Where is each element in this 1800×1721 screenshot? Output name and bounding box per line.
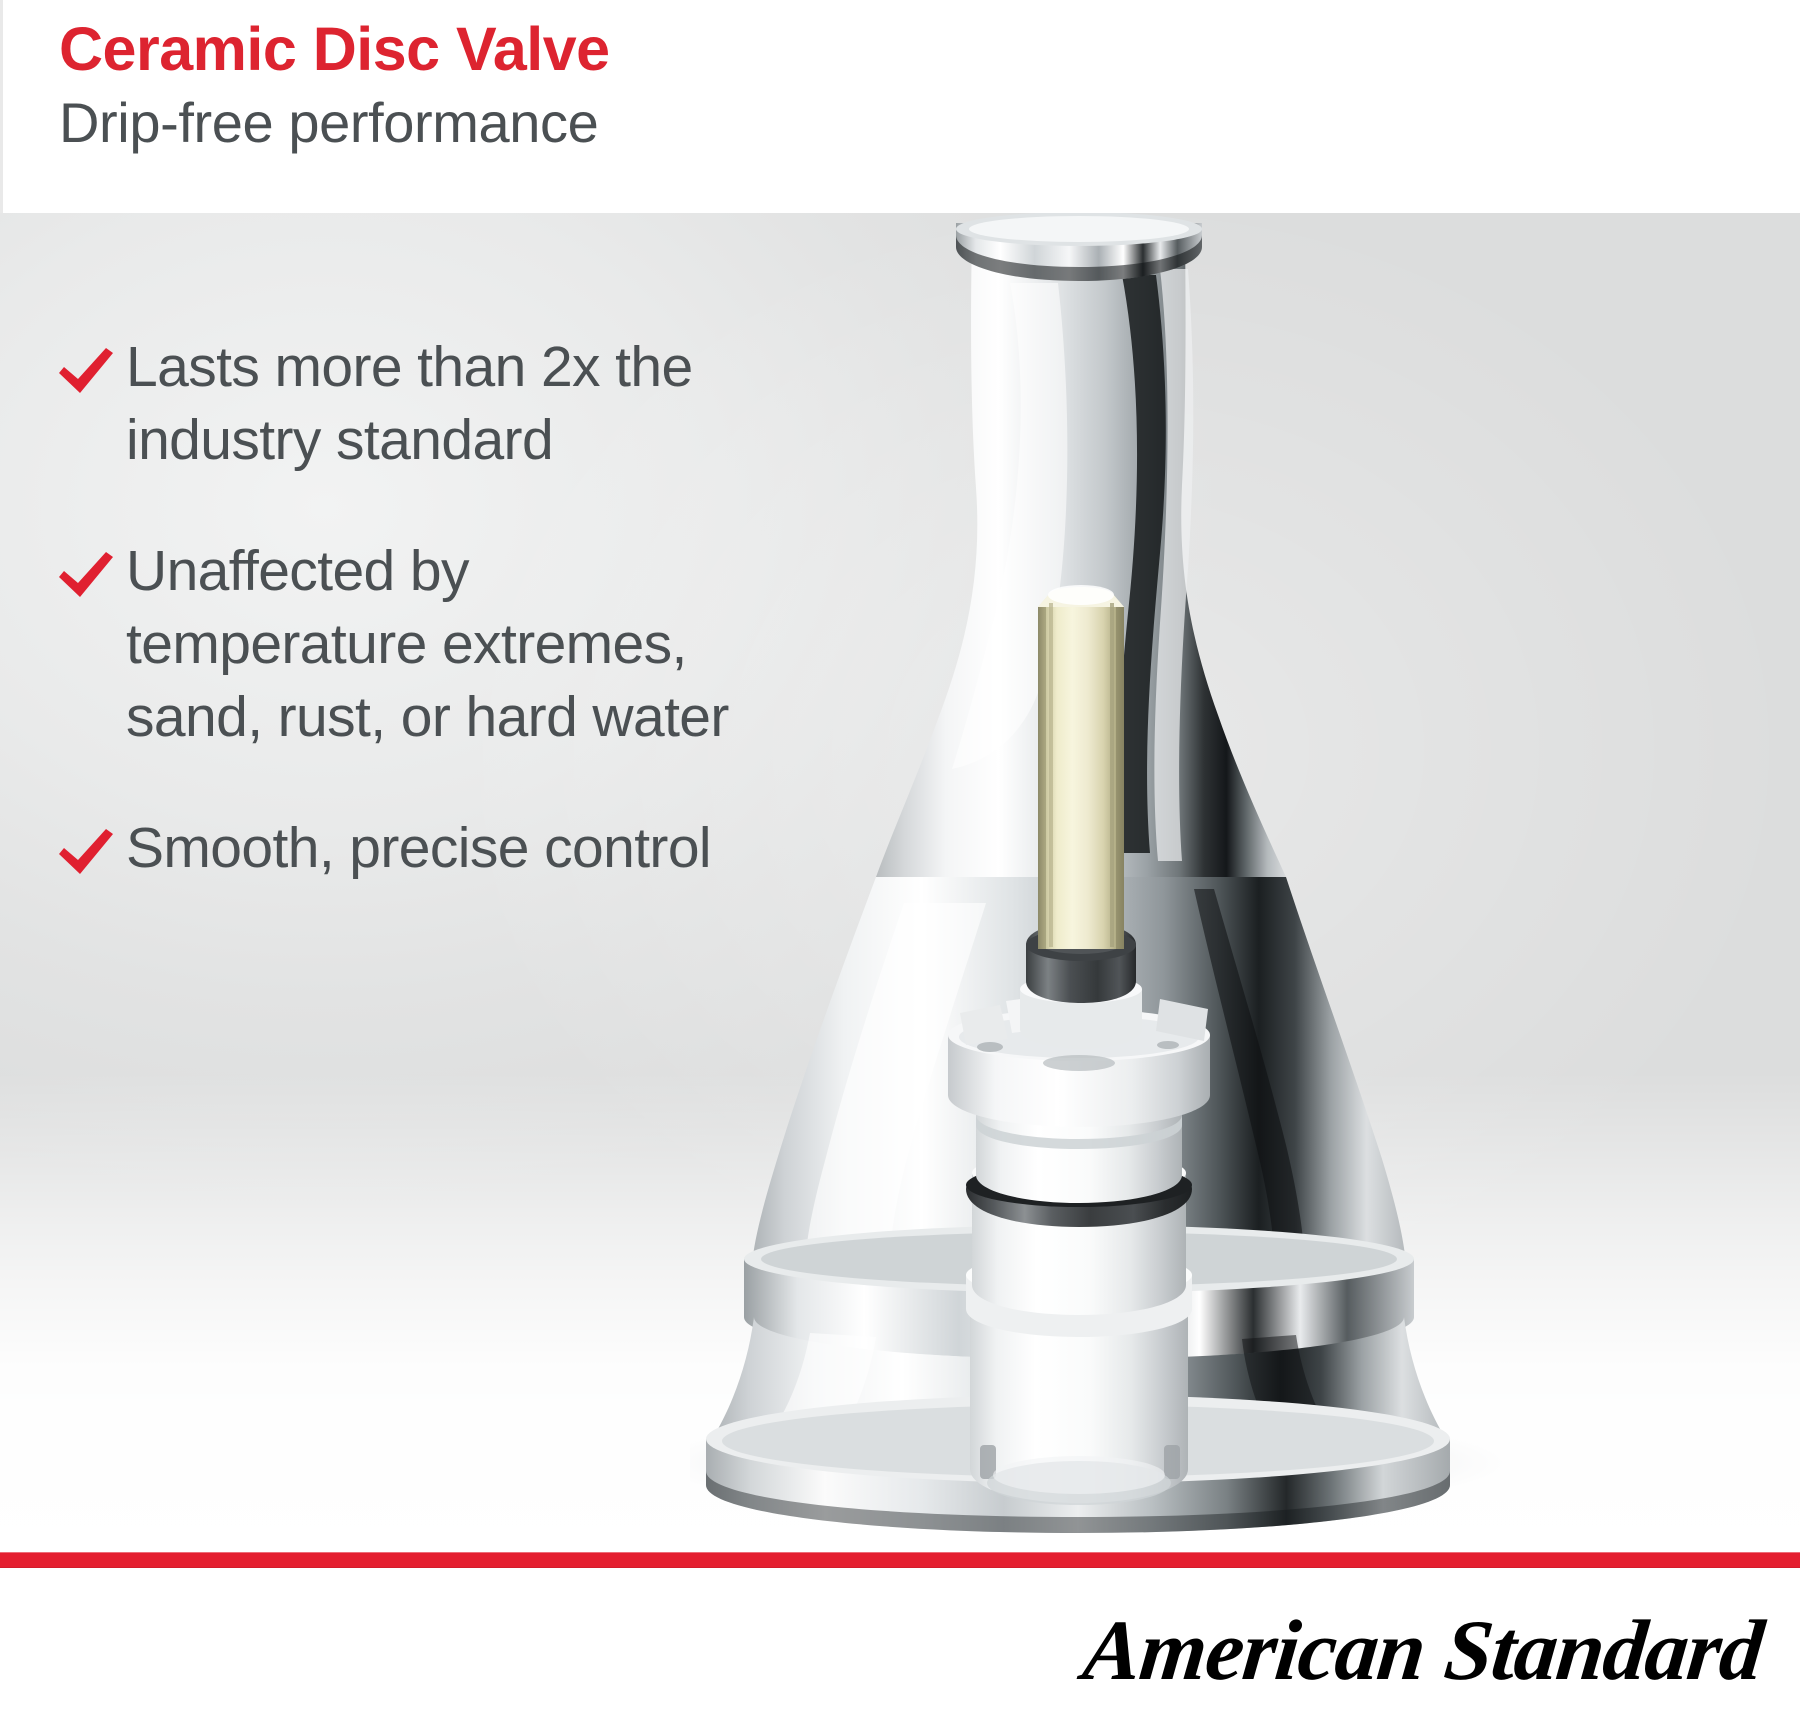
brand-divider-rule [0,1552,1800,1568]
check-mark-icon [56,812,126,878]
feature-item-label: Lasts more than 2x the industry standard [126,331,760,477]
check-mark-icon [56,535,126,601]
feature-list: Lasts more than 2x the industry standard… [0,213,760,885]
feature-item: Lasts more than 2x the industry standard [56,331,760,477]
feature-item-label: Unaffected by temperature extremes, sand… [126,535,760,754]
faucet-cutaway-illustration [690,213,1800,1552]
header-text-block: Ceramic Disc Valve Drip-free performance [3,0,1800,156]
check-mark-icon [56,331,126,397]
brand-logo-wordmark: American Standard [1078,1600,1767,1700]
page-subtitle: Drip-free performance [59,90,1800,156]
page-title: Ceramic Disc Valve [59,14,1800,84]
header-banner: Ceramic Disc Valve Drip-free performance [0,0,1800,213]
feature-item-label: Smooth, precise control [126,812,711,885]
footer-bar: American Standard [0,1552,1800,1721]
feature-item: Unaffected by temperature extremes, sand… [56,535,760,754]
feature-item: Smooth, precise control [56,812,760,885]
